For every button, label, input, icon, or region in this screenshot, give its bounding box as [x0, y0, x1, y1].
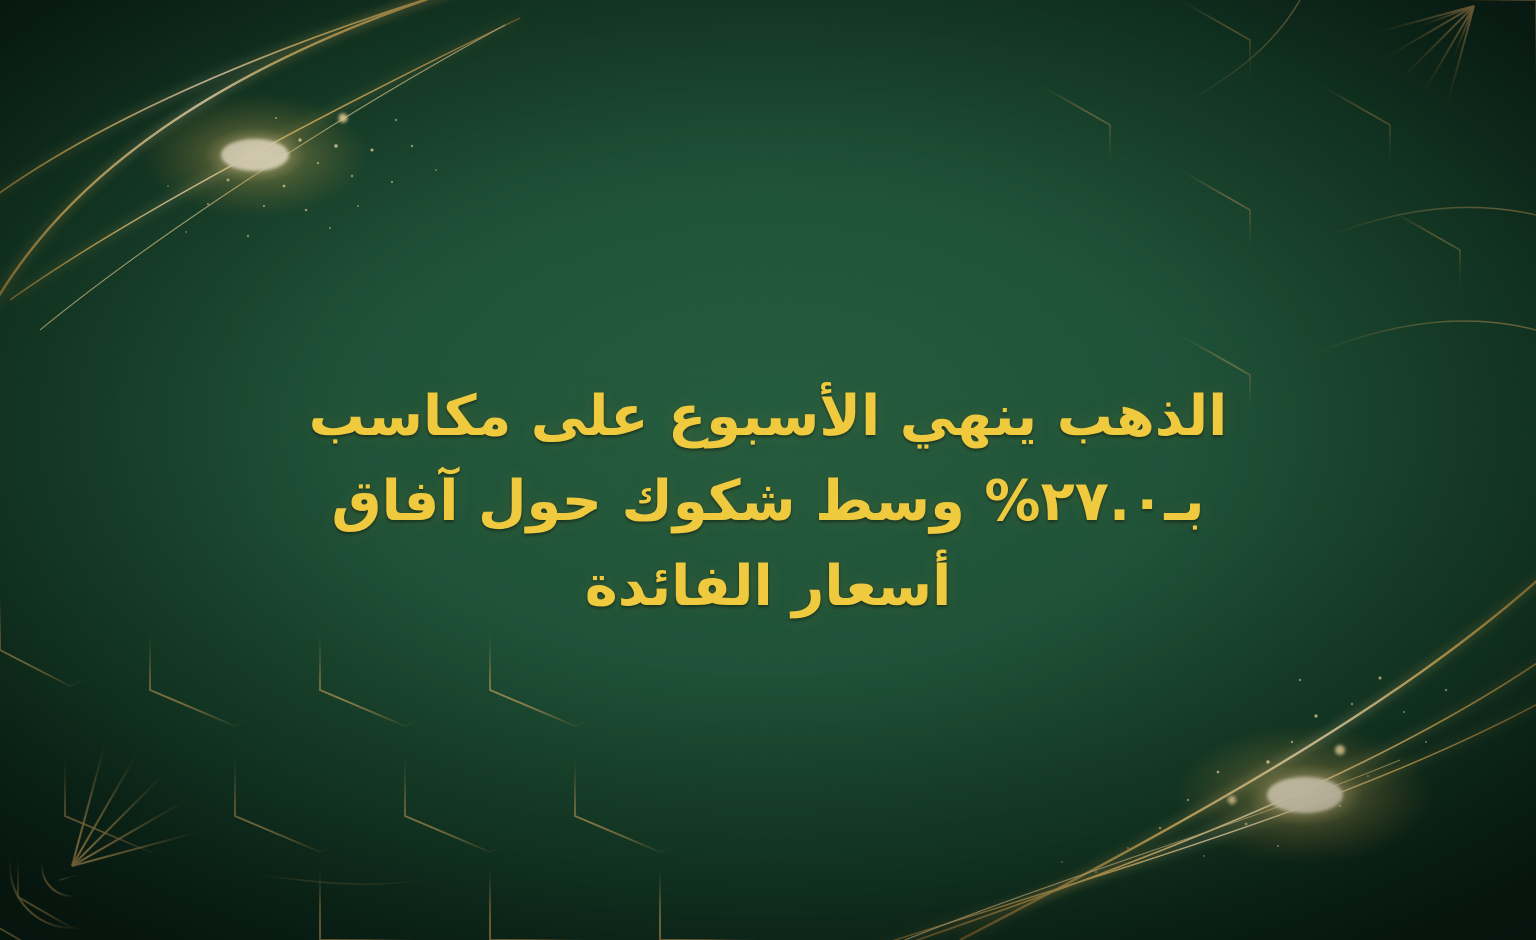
- headline-line-3: أسعار الفائدة: [585, 544, 952, 629]
- headline-line-1: الذهب ينهي الأسبوع على مكاسب: [309, 374, 1228, 459]
- news-card: الذهب ينهي الأسبوع على مكاسب بـ٢٧.٠% وسط…: [0, 0, 1536, 940]
- background-vignette: [0, 0, 1536, 940]
- headline-line-2: بـ٢٧.٠% وسط شكوك حول آفاق: [332, 459, 1205, 544]
- bottom-left-ornament: [0, 0, 1536, 940]
- background-texture: [0, 0, 1536, 940]
- gold-swoosh-decoration: [0, 0, 1536, 940]
- headline: الذهب ينهي الأسبوع على مكاسب بـ٢٧.٠% وسط…: [0, 374, 1536, 629]
- top-right-ornament: [0, 0, 1536, 940]
